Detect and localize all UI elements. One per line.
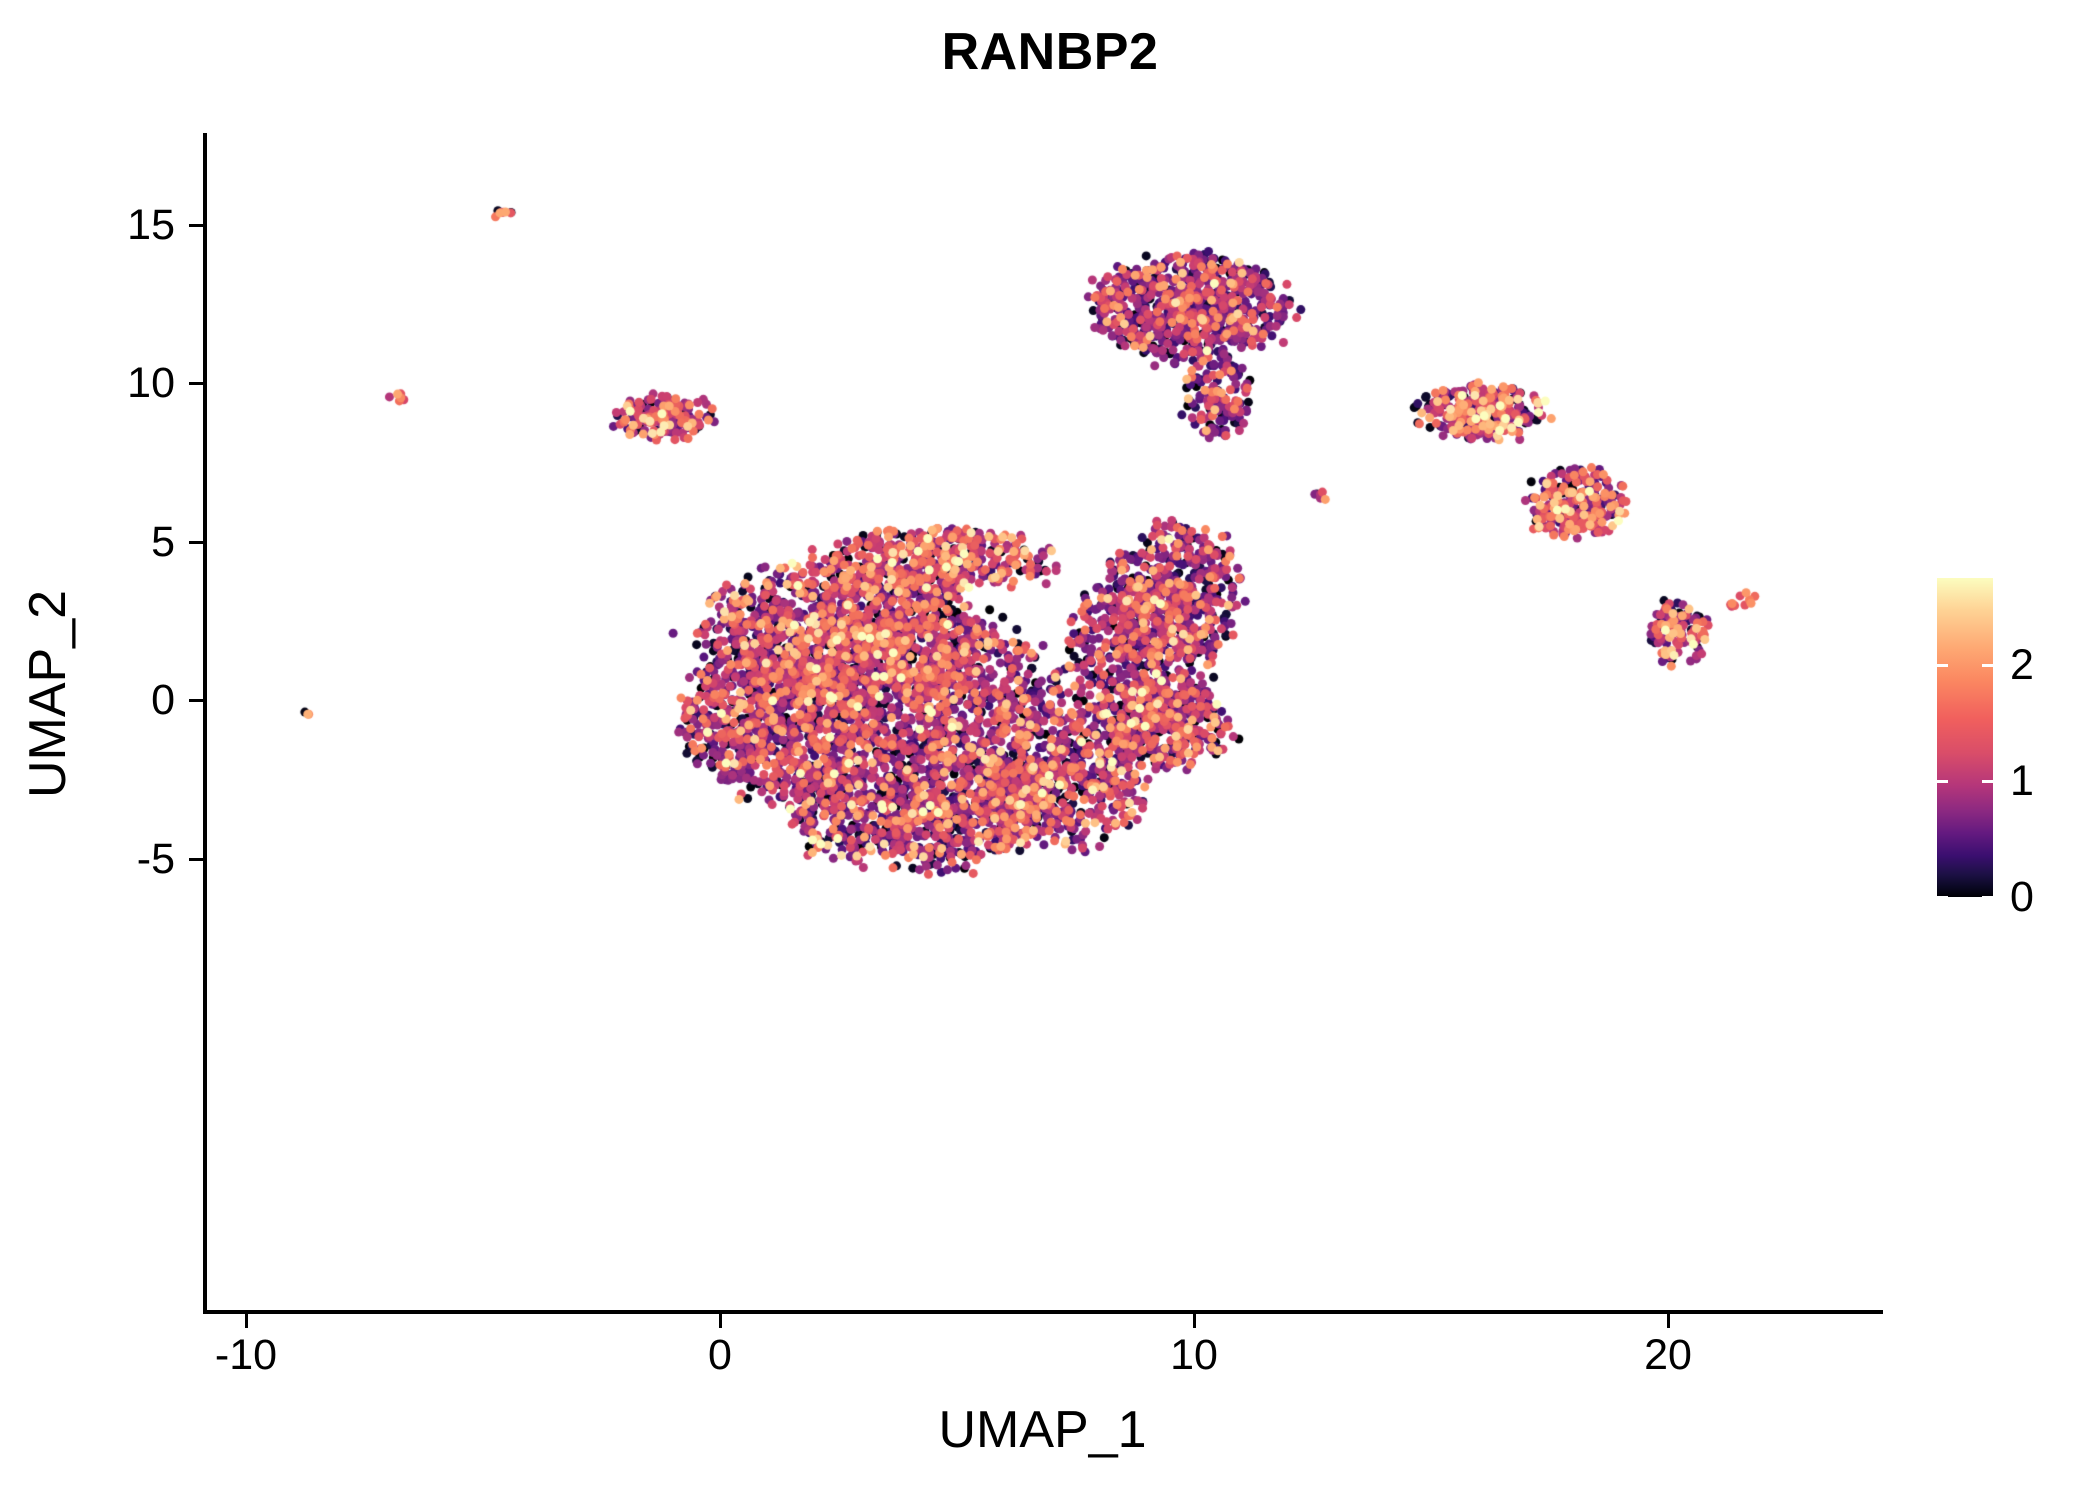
y-axis-title: UMAP_2	[18, 434, 78, 954]
y-tick-mark	[189, 541, 203, 544]
y-tick-label: 5	[151, 521, 175, 564]
y-tick-mark	[189, 858, 203, 861]
y-tick-mark	[189, 382, 203, 385]
scatter-point-layer	[205, 135, 1880, 1310]
colorbar-tick-mark	[1982, 664, 1993, 667]
colorbar-tick-mark	[1937, 664, 1948, 667]
y-tick-mark	[189, 699, 203, 702]
colorbar-tick-mark	[1937, 780, 1948, 783]
colorbar-tick-mark	[1982, 896, 1993, 899]
colorbar-tick-mark	[1937, 896, 1948, 899]
x-tick-label: 10	[1094, 1334, 1294, 1377]
y-tick-label: 15	[127, 204, 175, 247]
colorbar-tick-label: 0	[2010, 876, 2034, 919]
colorbar-legend: 210	[1930, 560, 2090, 920]
x-tick-label: 20	[1568, 1334, 1768, 1377]
y-tick-label: 10	[127, 362, 175, 405]
feature-plot-figure: RANBP2 151050-5 -1001020 UMAP_1 UMAP_2 2…	[0, 0, 2100, 1500]
x-tick-label: 0	[620, 1334, 820, 1377]
colorbar-tick-label: 1	[2010, 760, 2034, 803]
colorbar-tick-label: 2	[2010, 644, 2034, 687]
colorbar-gradient	[1937, 578, 1993, 897]
y-axis-line	[203, 133, 207, 1314]
x-tick-mark	[1667, 1314, 1670, 1328]
x-tick-mark	[1193, 1314, 1196, 1328]
x-tick-label: -10	[146, 1334, 346, 1377]
y-tick-label: 0	[151, 679, 175, 722]
colorbar-tick-mark	[1982, 780, 1993, 783]
scatter-panel	[205, 135, 1880, 1310]
y-tick-label: -5	[137, 838, 175, 881]
page-title: RANBP2	[0, 22, 2100, 82]
y-tick-mark	[189, 224, 203, 227]
x-axis-line	[203, 1310, 1883, 1314]
x-tick-mark	[245, 1314, 248, 1328]
x-axis-title: UMAP_1	[205, 1400, 1880, 1460]
x-tick-mark	[719, 1314, 722, 1328]
